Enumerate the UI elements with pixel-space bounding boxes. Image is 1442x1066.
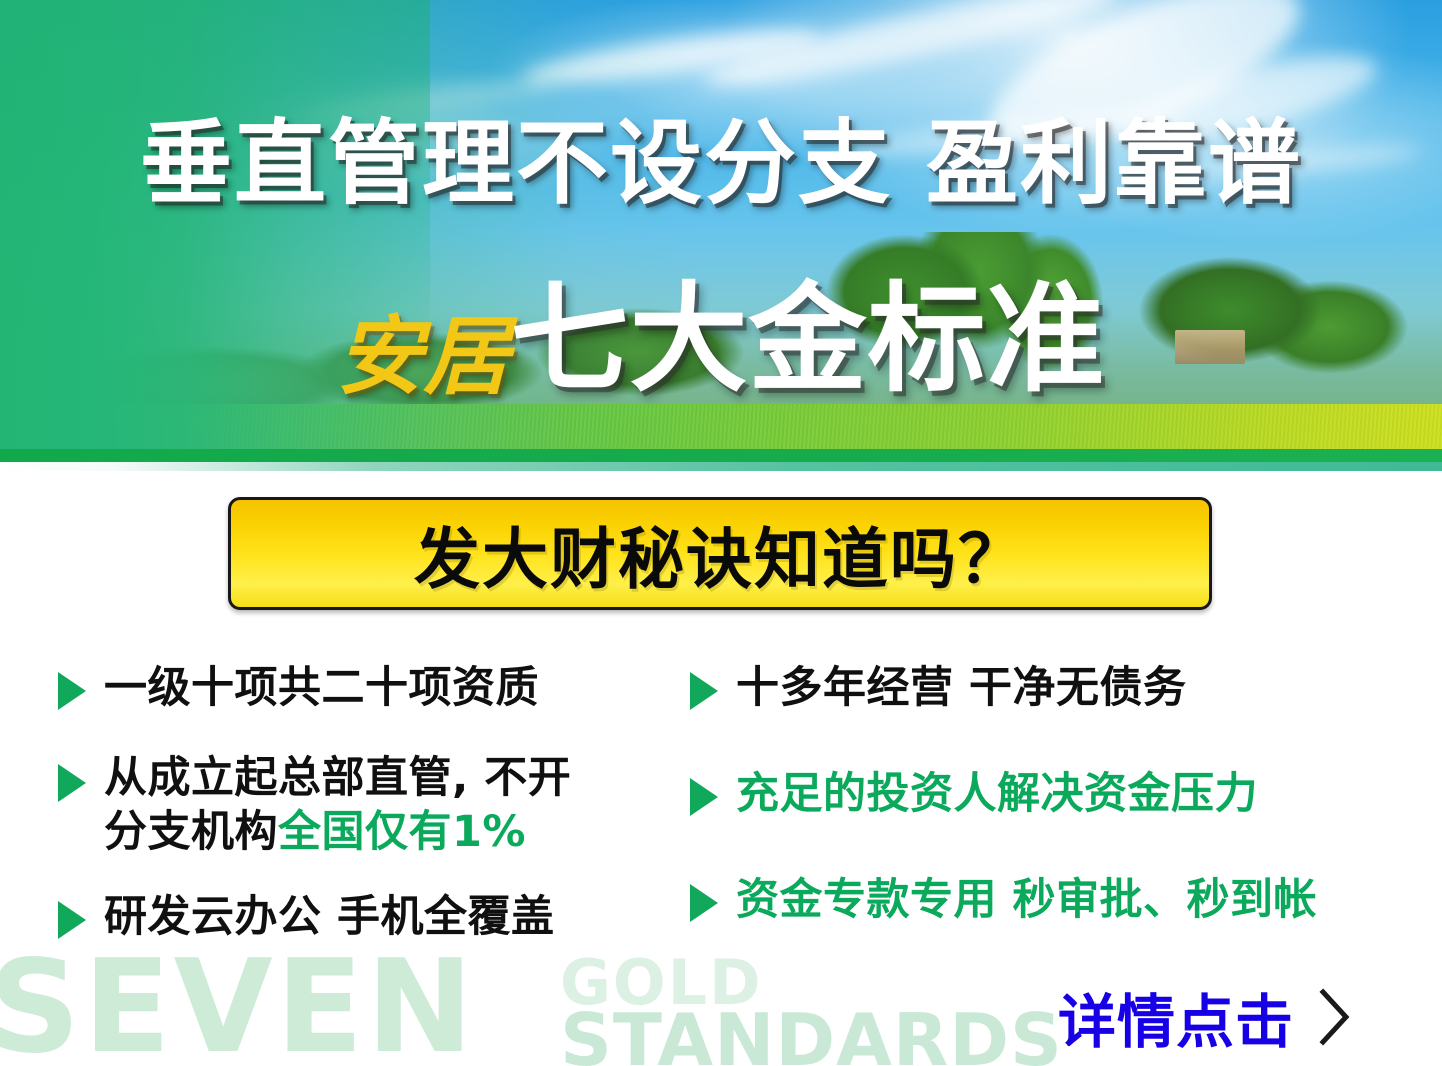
features-column-left: 一级十项共二十项资质 从成立起总部直管, 不开 分支机构全国仅有1% 研发云办公… [58, 662, 688, 971]
triangle-bullet-icon [690, 672, 718, 710]
feature-text: 资金专款专用 秒审批、秒到帐 [736, 874, 1317, 928]
hero-subline: 七大金标准 [510, 270, 1105, 408]
feature-text: 研发云办公 手机全覆盖 [104, 891, 554, 945]
feature-text: 充足的投资人解决资金压力 [736, 768, 1258, 822]
feature-text: 十多年经营 干净无债务 [736, 662, 1186, 716]
hero-section: 垂直管理不设分支 盈利靠谱 安居七大金标准 [0, 0, 1442, 471]
triangle-bullet-icon [58, 672, 86, 710]
feature-item: 一级十项共二十项资质 [58, 662, 688, 716]
feature-item: 十多年经营 干净无债务 [690, 662, 1430, 716]
feature-item: 资金专款专用 秒审批、秒到帐 [690, 874, 1430, 928]
details-cta-button[interactable]: 详情点击 [1058, 975, 1354, 1059]
triangle-bullet-icon [690, 884, 718, 922]
feature-text-block: 从成立起总部直管, 不开 分支机构全国仅有1% [104, 752, 571, 860]
feature-item: 充足的投资人解决资金压力 [690, 768, 1430, 822]
gold-banner-text: 发大财秘诀知道吗？ [414, 506, 1026, 602]
feature-text-line2-plain: 分支机构 [104, 807, 278, 857]
feature-item: 从成立起总部直管, 不开 分支机构全国仅有1% [58, 752, 688, 860]
triangle-bullet-icon [690, 778, 718, 816]
chevron-right-icon [1316, 986, 1354, 1048]
hero-headline: 垂直管理不设分支 盈利靠谱 [0, 118, 1442, 210]
watermark-standards: STANDARDS [560, 1004, 1063, 1066]
advertisement-banner: 垂直管理不设分支 盈利靠谱 安居七大金标准 发大财秘诀知道吗？ 一级十项共二十项… [0, 0, 1442, 1066]
gold-question-banner[interactable]: 发大财秘诀知道吗？ [228, 497, 1212, 610]
feature-item: 研发云办公 手机全覆盖 [58, 891, 688, 945]
hero-subline-row: 安居七大金标准 [0, 280, 1442, 400]
feature-text: 一级十项共二十项资质 [104, 662, 539, 716]
details-cta-label: 详情点击 [1058, 975, 1294, 1059]
features-section: 一级十项共二十项资质 从成立起总部直管, 不开 分支机构全国仅有1% 研发云办公… [0, 662, 1442, 972]
triangle-bullet-icon [58, 901, 86, 939]
teal-fade-strip [0, 462, 1442, 471]
feature-text-line1: 从成立起总部直管, 不开 [104, 753, 571, 803]
green-divider-band [0, 449, 1442, 462]
features-column-right: 十多年经营 干净无债务 充足的投资人解决资金压力 资金专款专用 秒审批、秒到帐 [690, 662, 1430, 979]
triangle-bullet-icon [58, 764, 86, 802]
feature-text-highlight: 全国仅有1% [278, 807, 526, 857]
hero-brand-name: 安居 [336, 306, 510, 407]
